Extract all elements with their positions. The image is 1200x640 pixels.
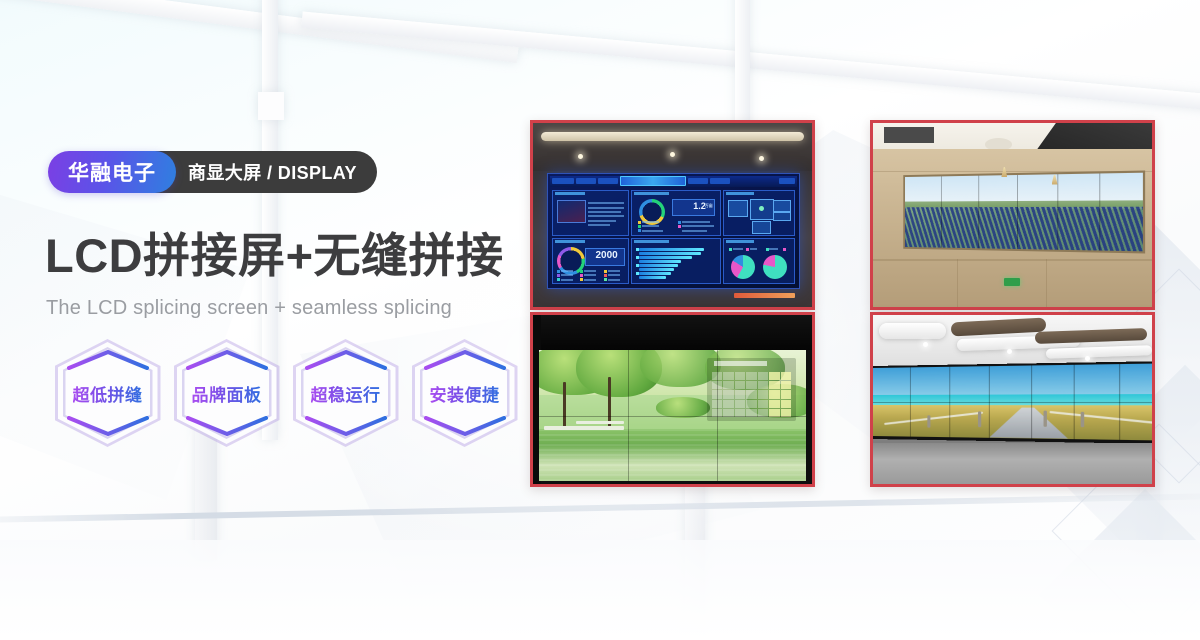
ceiling-spotlight: [578, 154, 583, 159]
dashboard-nav-item: [779, 178, 795, 184]
dashboard-header: [550, 176, 797, 187]
panel-thumbnail: [557, 200, 586, 222]
screen-calendar-overlay: [707, 358, 795, 420]
pie-chart: [763, 255, 787, 279]
dashboard-nav-item: [710, 178, 730, 184]
dashboard-row: 1.2 万亩: [552, 190, 795, 236]
panel-title: [634, 240, 669, 243]
photo-scene: 1.2 万亩: [533, 123, 812, 307]
video-wall-screen: 1.2 万亩: [547, 173, 800, 289]
panel-title: [555, 192, 585, 195]
ceiling-light-strip: [541, 132, 803, 141]
dashboard-nav-item: [576, 178, 596, 184]
bar: [639, 256, 692, 259]
screen-lake-reflection: [539, 429, 807, 481]
bar: [639, 268, 674, 271]
ceiling-spotlight: [1085, 356, 1090, 361]
video-wall-screen: [873, 361, 1155, 444]
screen-ticker: [734, 293, 795, 298]
panel-title: [555, 240, 585, 243]
dashboard-panel-stats: 1.2 万亩: [631, 190, 721, 236]
bar: [639, 272, 671, 275]
product-photo-grid: 1.2 万亩: [0, 0, 1200, 640]
panel-title: [726, 240, 754, 243]
dashboard-panel-barchart: [631, 238, 721, 284]
screen-sea: [873, 394, 1155, 406]
promo-banner: 华融电子 商显大屏 / DISPLAY LCD拼接屏+无缝拼接 The LCD …: [0, 0, 1200, 640]
calendar-header: [714, 361, 767, 366]
dashboard-body: 1.2 万亩: [550, 188, 797, 286]
screen-railing: [576, 421, 624, 424]
video-wall-screen: [904, 170, 1146, 253]
bar: [639, 264, 678, 267]
flow-node: [752, 221, 771, 234]
dashboard-panel-flow: [723, 190, 795, 236]
flow-node: [728, 200, 748, 217]
panel-title: [634, 192, 669, 195]
dashboard-row: 2000: [552, 238, 795, 284]
photo-scene: [873, 123, 1152, 307]
photo-beach-boardwalk-video-wall: [870, 312, 1155, 487]
bar: [639, 260, 681, 263]
flow-marker: [759, 206, 764, 211]
ceiling-vent: [884, 127, 934, 144]
dashboard-timestamp: [552, 178, 574, 184]
dashboard-title: [620, 176, 686, 186]
photo-dashboard-video-wall: 1.2 万亩: [530, 120, 815, 310]
dashboard-nav-item: [598, 178, 618, 184]
ceiling: [533, 315, 812, 350]
lobby-floor: [873, 443, 1152, 484]
dashboard-nav-item: [688, 178, 708, 184]
dashboard-panel-pies: [723, 238, 795, 284]
screen-railing: [544, 426, 624, 430]
photo-solar-farm-video-wall: [870, 120, 1155, 310]
flow-node: [773, 200, 790, 212]
photo-scene: [533, 315, 812, 484]
flow-node: [773, 212, 790, 221]
video-wall-screen: [539, 350, 807, 480]
dashboard-panel-intro: [552, 190, 629, 236]
calendar-grid: [712, 372, 792, 417]
dashboard: 1.2 万亩: [550, 176, 797, 286]
photo-scene: [873, 315, 1152, 484]
ceiling-light-cove: [879, 323, 946, 338]
photo-willow-lake-video-wall: [530, 312, 815, 487]
bar: [639, 248, 704, 251]
pie-chart: [731, 255, 755, 279]
exit-sign-icon: [1004, 278, 1020, 286]
screen-sky: [873, 363, 1155, 397]
stat-value: 2000: [595, 250, 617, 261]
dashboard-panel-donut: 2000: [552, 238, 629, 284]
ceiling: [533, 123, 812, 171]
bar: [639, 276, 665, 279]
bar: [639, 252, 700, 255]
stat-unit: 万亩: [705, 203, 713, 209]
panel-title: [726, 192, 754, 195]
ceiling-spotlight: [1007, 349, 1012, 354]
